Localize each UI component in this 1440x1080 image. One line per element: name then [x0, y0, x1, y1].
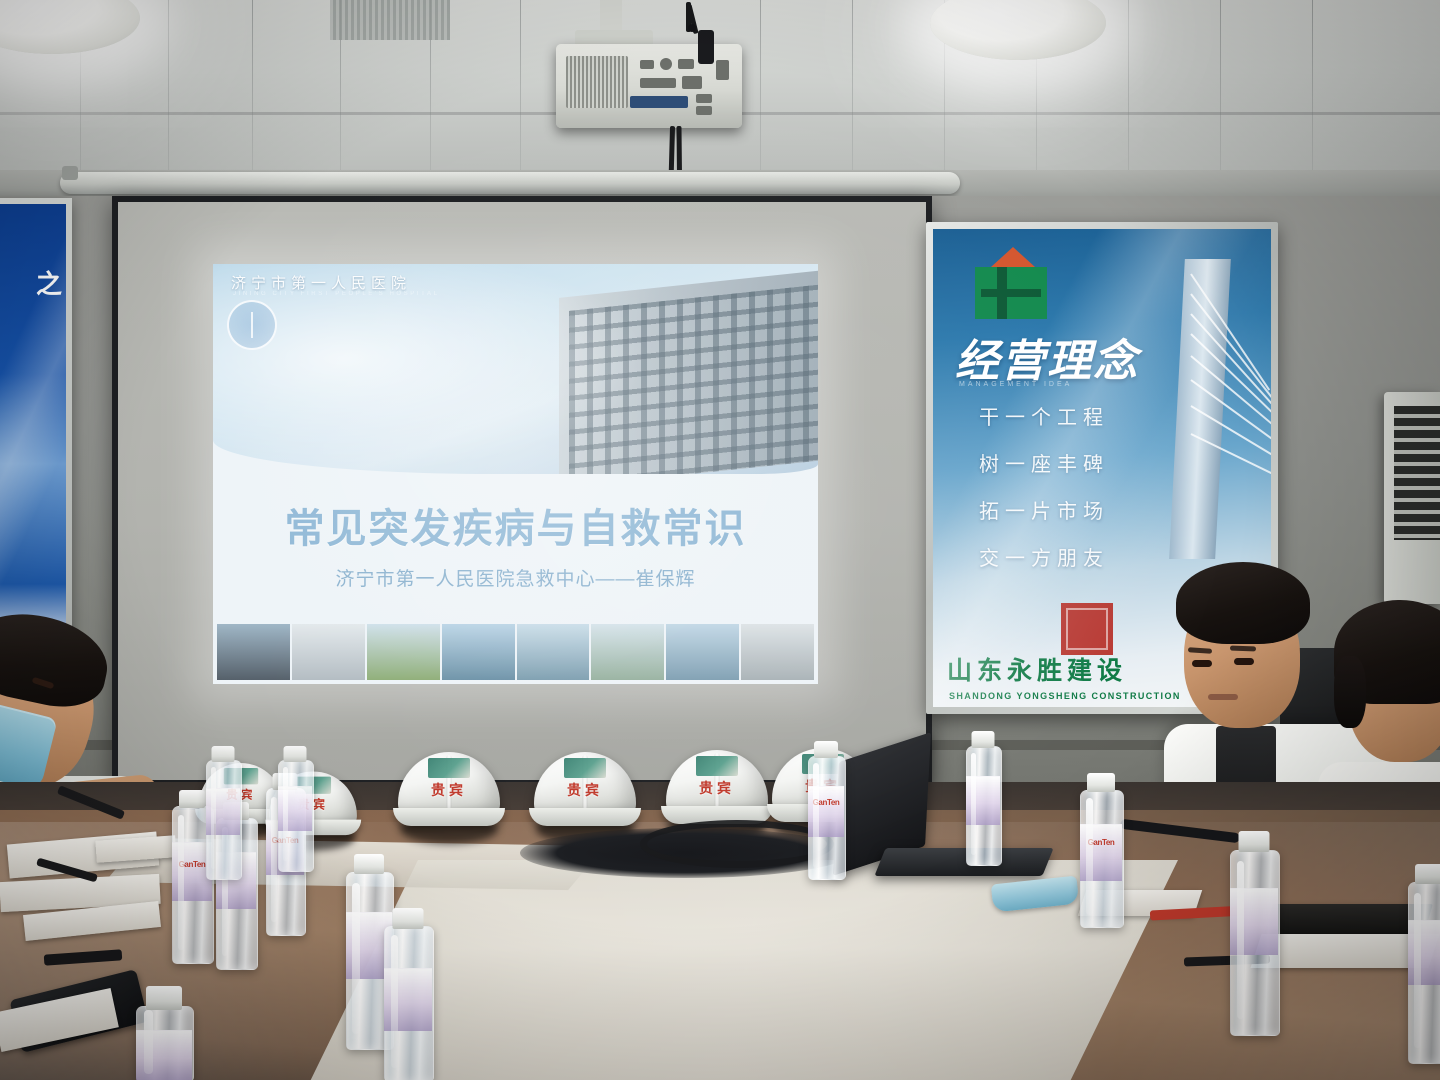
projection-screen: 济宁市第一人民医院 JINING CITY FIRST PEOPLE'S HOS… — [118, 202, 926, 780]
hard-hat-label: 贵宾 — [666, 778, 768, 798]
hard-hat-label: 贵宾 — [534, 780, 636, 800]
slide-title: 常见突发疾病与自救常识 — [213, 496, 818, 554]
projection-screen-roller — [60, 172, 960, 194]
hard-hat[interactable]: 贵宾 — [398, 752, 500, 830]
water-bottle[interactable] — [136, 1006, 192, 1080]
water-bottle[interactable] — [1230, 850, 1278, 1034]
laptop-keyboard[interactable] — [874, 848, 1053, 876]
slide-hero-image: 济宁市第一人民医院 JINING CITY FIRST PEOPLE'S HOS… — [213, 264, 818, 474]
hard-hat[interactable]: 贵宾 — [534, 752, 636, 830]
projector-grille — [566, 56, 628, 108]
projected-slide: 济宁市第一人民医院 JINING CITY FIRST PEOPLE'S HOS… — [213, 264, 818, 684]
water-bottle[interactable]: GanTen — [1080, 790, 1122, 926]
water-bottle[interactable] — [384, 926, 432, 1080]
screen-bracket — [62, 166, 78, 180]
slide-subtitle: 济宁市第一人民医院急救中心——崔保辉 — [213, 564, 818, 591]
conference-room-scene: 之 济宁市第一人民医院 JINING CITY FIRST PEOPLE'S H… — [0, 0, 1440, 1080]
slide-hospital-name: 济宁市第一人民医院 — [231, 272, 411, 293]
hard-hat[interactable]: 贵宾 — [666, 750, 768, 828]
water-bottle[interactable] — [206, 760, 240, 878]
water-bottle[interactable] — [1408, 882, 1440, 1062]
water-bottle[interactable] — [966, 746, 1000, 864]
water-bottle[interactable] — [278, 760, 312, 870]
projection-screen-frame: 济宁市第一人民医院 JINING CITY FIRST PEOPLE'S HOS… — [112, 196, 932, 786]
cable-ferrite — [698, 30, 714, 64]
ceiling-vent — [330, 0, 450, 40]
slide-hospital-name-en: JINING CITY FIRST PEOPLE'S HOSPITAL — [233, 291, 440, 297]
ac-grille-icon — [1394, 406, 1440, 540]
water-bottle[interactable]: GanTen — [808, 756, 844, 878]
hospital-emblem-icon — [227, 300, 277, 350]
coiled-cable-loop — [640, 820, 834, 868]
hard-hat-label: 贵宾 — [398, 780, 500, 800]
slide-thumbnail-strip — [217, 624, 814, 680]
